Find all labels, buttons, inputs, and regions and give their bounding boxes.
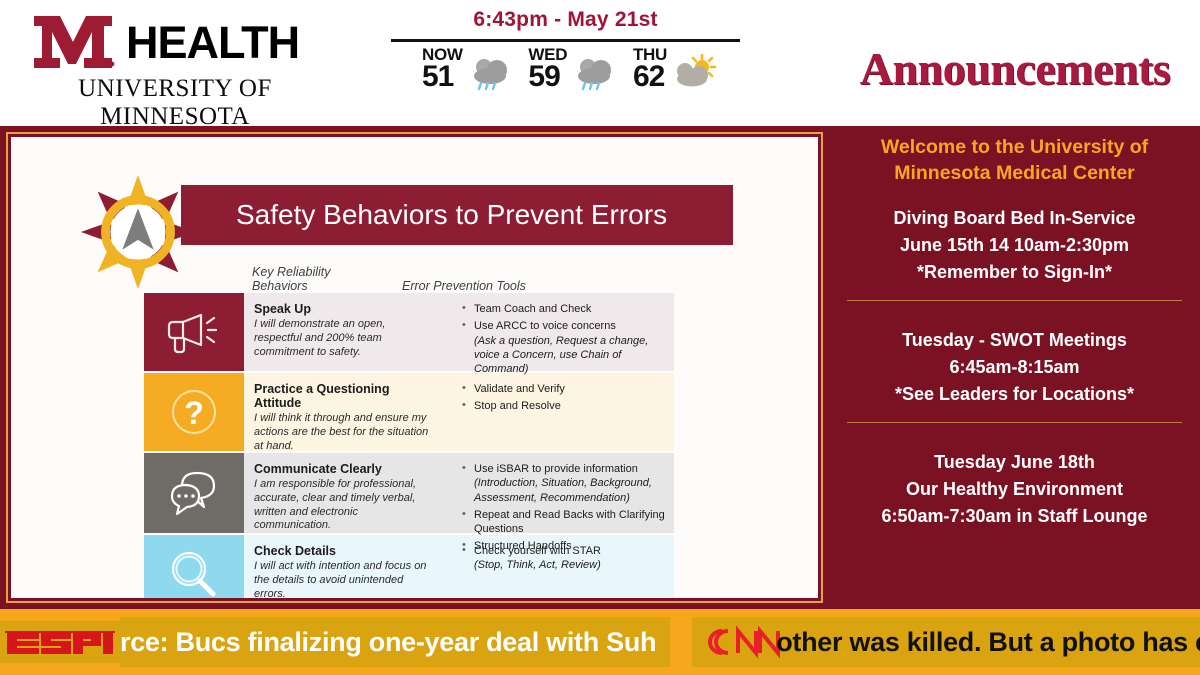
safety-behaviors-table: Key Reliability Behaviors Error Preventi… bbox=[144, 269, 674, 598]
table-row: Check Details I will act with intention … bbox=[144, 535, 674, 598]
row-icon-cell: ? bbox=[144, 373, 244, 451]
table-header-row: Key Reliability Behaviors Error Preventi… bbox=[144, 269, 674, 293]
tool-note: (Introduction, Situation, Background, As… bbox=[474, 476, 670, 505]
health-wordmark: HEALTH bbox=[126, 20, 299, 65]
tool-text: Check yourself with STAR bbox=[474, 545, 601, 557]
behavior-heading: Speak Up bbox=[254, 302, 436, 316]
weather-temp: 59 bbox=[528, 63, 567, 92]
list-item: Stop and Resolve bbox=[462, 399, 670, 413]
magnifying-glass-icon bbox=[166, 548, 222, 598]
slide-content: Safety Behaviors to Prevent Errors Key R… bbox=[11, 137, 818, 598]
time-weather-widget: 6:43pm - May 21st NOW 51 bbox=[388, 8, 743, 92]
ticker-headline: rce: Bucs finalizing one-year deal with … bbox=[120, 627, 656, 658]
behavior-heading: Check Details bbox=[254, 544, 436, 558]
announcement-line-1: Diving Board Bed In-Service bbox=[839, 205, 1190, 232]
tools-list: Use iSBAR to provide information (Introd… bbox=[462, 462, 670, 554]
row-tools-cell: Validate and Verify Stop and Resolve bbox=[444, 373, 674, 451]
welcome-message: Welcome to the University of Minnesota M… bbox=[829, 134, 1200, 187]
announcement-line-2: Our Healthy Environment bbox=[839, 476, 1190, 503]
weather-cell-thu: THU 62 bbox=[633, 46, 717, 92]
tool-text: Use ARCC to voice concerns bbox=[474, 320, 616, 332]
svg-text:?: ? bbox=[184, 395, 204, 431]
table-row: Communicate Clearly I am responsible for… bbox=[144, 453, 674, 533]
tools-list: Team Coach and Check Use ARCC to voice c… bbox=[462, 302, 670, 376]
table-row: ? Practice a Questioning Attitude I will… bbox=[144, 373, 674, 451]
ticker-gap bbox=[670, 617, 692, 667]
tool-text: Team Coach and Check bbox=[474, 303, 591, 315]
speech-bubbles-icon bbox=[165, 469, 223, 517]
tool-note: (Ask a question, Request a change, voice… bbox=[474, 334, 670, 377]
announcement-line-1: Tuesday - SWOT Meetings bbox=[839, 327, 1190, 354]
row-tools-cell: Team Coach and Check Use ARCC to voice c… bbox=[444, 293, 674, 371]
column-header-tools: Error Prevention Tools bbox=[384, 279, 526, 293]
row-behavior-cell: Communicate Clearly I am responsible for… bbox=[244, 453, 444, 533]
spacer bbox=[829, 187, 1200, 205]
slide-title-banner: Safety Behaviors to Prevent Errors bbox=[181, 185, 733, 245]
spacer bbox=[829, 437, 1200, 449]
announcement-line-3: *See Leaders for Locations* bbox=[839, 381, 1190, 408]
announcement-divider bbox=[847, 300, 1182, 301]
behavior-statement: I will demonstrate an open, respectful a… bbox=[254, 318, 436, 359]
weather-temp: 51 bbox=[422, 63, 463, 92]
table-row: Speak Up I will demonstrate an open, res… bbox=[144, 293, 674, 371]
tool-note: (Stop, Think, Act, Review) bbox=[474, 558, 670, 572]
tool-text: Use iSBAR to provide information bbox=[474, 463, 638, 475]
spacer bbox=[829, 315, 1200, 327]
ticker-scroll-area: rce: Bucs finalizing one-year deal with … bbox=[0, 617, 1200, 667]
behavior-statement: I am responsible for professional, accur… bbox=[254, 478, 436, 533]
tool-text: Repeat and Read Backs with Clarifying Qu… bbox=[474, 509, 665, 535]
announcement-line-1: Tuesday June 18th bbox=[839, 449, 1190, 476]
university-line: UNIVERSITY OF MINNESOTA bbox=[30, 75, 320, 131]
question-mark-icon: ? bbox=[167, 385, 221, 439]
rain-cloud-icon bbox=[571, 54, 617, 92]
clock-text: 6:43pm - May 21st bbox=[388, 8, 743, 32]
behavior-heading: Practice a Questioning Attitude bbox=[254, 382, 436, 410]
row-tools-cell: Use iSBAR to provide information (Introd… bbox=[444, 453, 674, 533]
list-item: Validate and Verify bbox=[462, 382, 670, 396]
news-ticker-bar: rce: Bucs finalizing one-year deal with … bbox=[0, 609, 1200, 675]
announcement-item: Diving Board Bed In-Service June 15th 14… bbox=[829, 205, 1200, 286]
ticker-item-espn[interactable]: rce: Bucs finalizing one-year deal with … bbox=[0, 617, 670, 667]
cnn-logo bbox=[696, 620, 788, 664]
announcement-line-2: 6:45am-8:15am bbox=[839, 354, 1190, 381]
umn-m-logo-icon bbox=[30, 12, 116, 70]
row-icon-cell bbox=[144, 293, 244, 371]
ticker-headline-espn-wrap: rce: Bucs finalizing one-year deal with … bbox=[120, 617, 670, 667]
list-item: Check yourself with STAR (Stop, Think, A… bbox=[462, 544, 670, 573]
umn-health-logo-block: HEALTH UNIVERSITY OF MINNESOTA PERIOPERA… bbox=[30, 10, 330, 122]
announcement-line-3: *Remember to Sign-In* bbox=[839, 259, 1190, 286]
tools-list: Check yourself with STAR (Stop, Think, A… bbox=[462, 544, 670, 573]
row-icon-cell bbox=[144, 453, 244, 533]
slide-gold-border: Safety Behaviors to Prevent Errors Key R… bbox=[6, 132, 823, 603]
tool-text: Stop and Resolve bbox=[474, 400, 561, 412]
weather-temp: 62 bbox=[633, 63, 667, 92]
behavior-statement: I will act with intention and focus on t… bbox=[254, 560, 436, 598]
announcement-item: Tuesday June 18th Our Healthy Environmen… bbox=[829, 449, 1200, 530]
announcement-line-3: 6:50am-7:30am in Staff Lounge bbox=[839, 503, 1190, 530]
slide-header: Safety Behaviors to Prevent Errors bbox=[11, 137, 818, 235]
ticker-item-cnn[interactable]: other was killed. But a photo has eme bbox=[692, 617, 1200, 667]
welcome-line-1: Welcome to the University of bbox=[843, 134, 1186, 160]
ticker-headline-cnn-wrap: other was killed. But a photo has eme bbox=[692, 617, 1200, 667]
signage-screen: HEALTH UNIVERSITY OF MINNESOTA PERIOPERA… bbox=[0, 0, 1200, 675]
espn-logo bbox=[0, 621, 120, 663]
list-item: Use ARCC to voice concerns (Ask a questi… bbox=[462, 319, 670, 376]
behavior-statement: I will think it through and ensure my ac… bbox=[254, 412, 436, 453]
announcements-title-text: Announcements bbox=[860, 42, 1170, 95]
megaphone-icon bbox=[164, 309, 224, 355]
ticker-headline: other was killed. But a photo has eme bbox=[776, 627, 1200, 658]
rain-cloud-icon bbox=[467, 54, 513, 92]
sun-behind-cloud-icon bbox=[671, 54, 717, 92]
list-item: Team Coach and Check bbox=[462, 302, 670, 316]
welcome-line-2: Minnesota Medical Center bbox=[843, 160, 1186, 186]
announcement-divider bbox=[847, 422, 1182, 423]
slide-title-text: Safety Behaviors to Prevent Errors bbox=[181, 199, 667, 231]
behavior-heading: Communicate Clearly bbox=[254, 462, 436, 476]
announcements-title: Announcements bbox=[832, 34, 1198, 102]
row-behavior-cell: Practice a Questioning Attitude I will t… bbox=[244, 373, 444, 451]
weather-cell-now: NOW 51 bbox=[422, 46, 513, 92]
list-item: Use iSBAR to provide information (Introd… bbox=[462, 462, 670, 505]
row-behavior-cell: Speak Up I will demonstrate an open, res… bbox=[244, 293, 444, 371]
tools-list: Validate and Verify Stop and Resolve bbox=[462, 382, 670, 414]
row-icon-cell bbox=[144, 535, 244, 598]
header-divider-rule bbox=[391, 39, 740, 42]
weather-row: NOW 51 bbox=[388, 46, 743, 92]
announcement-item: Tuesday - SWOT Meetings 6:45am-8:15am *S… bbox=[829, 327, 1200, 408]
slide-panel: Safety Behaviors to Prevent Errors Key R… bbox=[0, 126, 829, 609]
announcement-line-2: June 15th 14 10am-2:30pm bbox=[839, 232, 1190, 259]
compass-rose-icon bbox=[79, 173, 197, 291]
weather-cell-wed: WED 59 bbox=[528, 46, 617, 92]
row-tools-cell: Check yourself with STAR (Stop, Think, A… bbox=[444, 535, 674, 598]
tool-text: Validate and Verify bbox=[474, 383, 565, 395]
top-header-bar: HEALTH UNIVERSITY OF MINNESOTA PERIOPERA… bbox=[0, 0, 1200, 126]
announcements-panel: Welcome to the University of Minnesota M… bbox=[829, 126, 1200, 609]
list-item: Repeat and Read Backs with Clarifying Qu… bbox=[462, 508, 670, 537]
row-behavior-cell: Check Details I will act with intention … bbox=[244, 535, 444, 598]
